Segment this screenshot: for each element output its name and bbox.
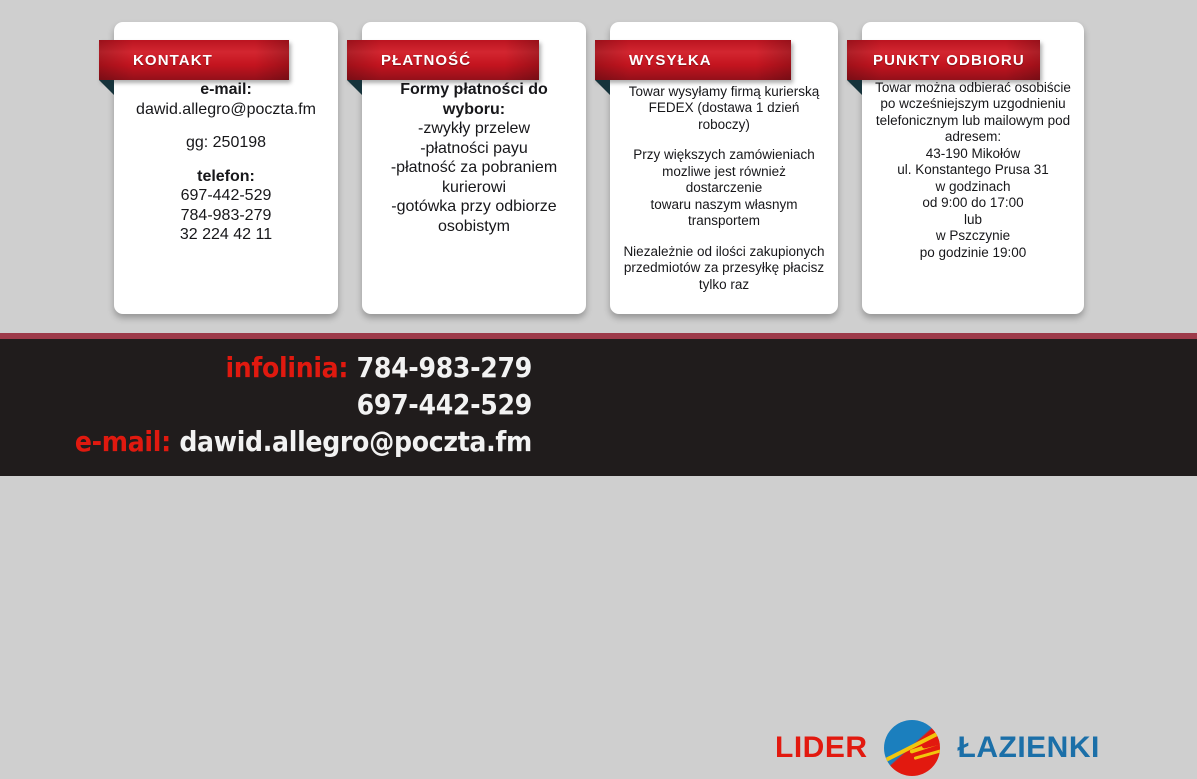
card-banner-kontakt: KONTAKT xyxy=(99,40,289,80)
card-line: -płatności payu xyxy=(374,139,574,159)
info-cards-area: e-mail: dawid.allegro@poczta.fm gg: 2501… xyxy=(0,0,1197,333)
footer-phone-secondary[interactable]: 697-442-529 xyxy=(357,388,532,421)
card-body-punkty-odbioru: Towar można odbierać osobiście po wcześn… xyxy=(862,80,1084,261)
card-line: wyboru: xyxy=(374,100,574,120)
card-line: ul. Konstantego Prusa 31 xyxy=(874,162,1072,178)
footer-contact-block: infolinia: 784-983-279 697-442-529 e-mai… xyxy=(0,349,560,461)
card-line: po wcześniejszym uzgodnieniu xyxy=(874,96,1072,112)
card-line: Niezależnie od ilości zakupionych xyxy=(622,244,826,260)
card-line: tylko raz xyxy=(622,277,826,293)
card-line: roboczy) xyxy=(622,117,826,133)
card-line: lub xyxy=(874,212,1072,228)
card-banner-platnosc: PŁATNOŚĆ xyxy=(347,40,539,80)
card-line: od 9:00 do 17:00 xyxy=(874,195,1072,211)
logo-circle-shape xyxy=(884,720,940,776)
card-body-wysylka: Towar wysyłamy firmą kurierską FEDEX (do… xyxy=(610,84,838,293)
ribbon-fold-icon xyxy=(99,80,114,95)
card-line: adresem: xyxy=(874,129,1072,145)
logo-circle-icon xyxy=(876,717,954,779)
spacer xyxy=(622,133,826,147)
banner-label: PŁATNOŚĆ xyxy=(347,52,471,69)
card-line: kurierowi xyxy=(374,178,574,198)
brand-logo[interactable]: LIDER ŁAZIENKI xyxy=(775,717,1095,779)
card-line: w godzinach xyxy=(874,179,1072,195)
logo-text-lider: LIDER xyxy=(775,733,868,763)
banner-label: PUNKTY ODBIORU xyxy=(847,52,1025,69)
card-line: po godzinie 19:00 xyxy=(874,245,1072,261)
banner-label: KONTAKT xyxy=(99,52,213,69)
card-line: w Pszczynie xyxy=(874,228,1072,244)
card-line: towaru naszym własnym xyxy=(622,197,826,213)
banner-plate: PŁATNOŚĆ xyxy=(347,40,539,80)
card-line: 32 224 42 11 xyxy=(126,225,326,245)
footer-contact-row: infolinia: 784-983-279 xyxy=(0,349,560,386)
card-line: przedmiotów za przesyłkę płacisz xyxy=(622,260,826,276)
card-line: Przy większych zamówieniach xyxy=(622,147,826,163)
card-line: -płatność za pobraniem xyxy=(374,158,574,178)
card-line: gg: 250198 xyxy=(126,133,326,153)
card-line: transportem xyxy=(622,213,826,229)
card-line: Formy płatności do xyxy=(374,80,574,100)
banner-plate: WYSYŁKA xyxy=(595,40,791,80)
card-line: dawid.allegro@poczta.fm xyxy=(126,100,326,120)
card-line: -gotówka przy odbiorze xyxy=(374,197,574,217)
footer-label-email: e-mail: xyxy=(75,425,180,458)
card-line: FEDEX (dostawa 1 dzień xyxy=(622,100,826,116)
footer-phone-primary[interactable]: 784-983-279 xyxy=(357,351,532,384)
footer-email[interactable]: dawid.allegro@poczta.fm xyxy=(179,425,532,458)
spacer xyxy=(622,230,826,244)
card-line: e-mail: xyxy=(126,80,326,100)
ribbon-fold-icon xyxy=(847,80,862,95)
footer-contact-row: e-mail: dawid.allegro@poczta.fm xyxy=(0,423,560,460)
card-banner-punkty-odbioru: PUNKTY ODBIORU xyxy=(847,40,1040,80)
card-body-kontakt: e-mail: dawid.allegro@poczta.fm gg: 2501… xyxy=(114,80,338,245)
logo-text-lazienki: ŁAZIENKI xyxy=(958,733,1100,763)
card-line: 784-983-279 xyxy=(126,206,326,226)
page-root: e-mail: dawid.allegro@poczta.fm gg: 2501… xyxy=(0,0,1197,476)
footer: infolinia: 784-983-279 697-442-529 e-mai… xyxy=(0,339,1197,476)
footer-label-infolinia: infolinia: xyxy=(225,351,356,384)
card-line: mozliwe jest również dostarczenie xyxy=(622,164,826,197)
ribbon-fold-icon xyxy=(347,80,362,95)
card-line: 697-442-529 xyxy=(126,186,326,206)
card-line: 43-190 Mikołów xyxy=(874,146,1072,162)
banner-plate: PUNKTY ODBIORU xyxy=(847,40,1040,80)
card-line: Towar wysyłamy firmą kurierską xyxy=(622,84,826,100)
card-body-platnosc: Formy płatności do wyboru: -zwykły przel… xyxy=(362,80,586,236)
spacer xyxy=(126,119,326,133)
footer-contact-row: 697-442-529 xyxy=(0,386,560,423)
card-line: -zwykły przelew xyxy=(374,119,574,139)
banner-label: WYSYŁKA xyxy=(595,52,712,69)
card-line: telefonicznym lub mailowym pod xyxy=(874,113,1072,129)
spacer xyxy=(126,153,326,167)
card-line: Towar można odbierać osobiście xyxy=(874,80,1072,96)
ribbon-fold-icon xyxy=(595,80,610,95)
card-line: osobistym xyxy=(374,217,574,237)
banner-plate: KONTAKT xyxy=(99,40,289,80)
card-banner-wysylka: WYSYŁKA xyxy=(595,40,791,80)
card-line: telefon: xyxy=(126,167,326,187)
